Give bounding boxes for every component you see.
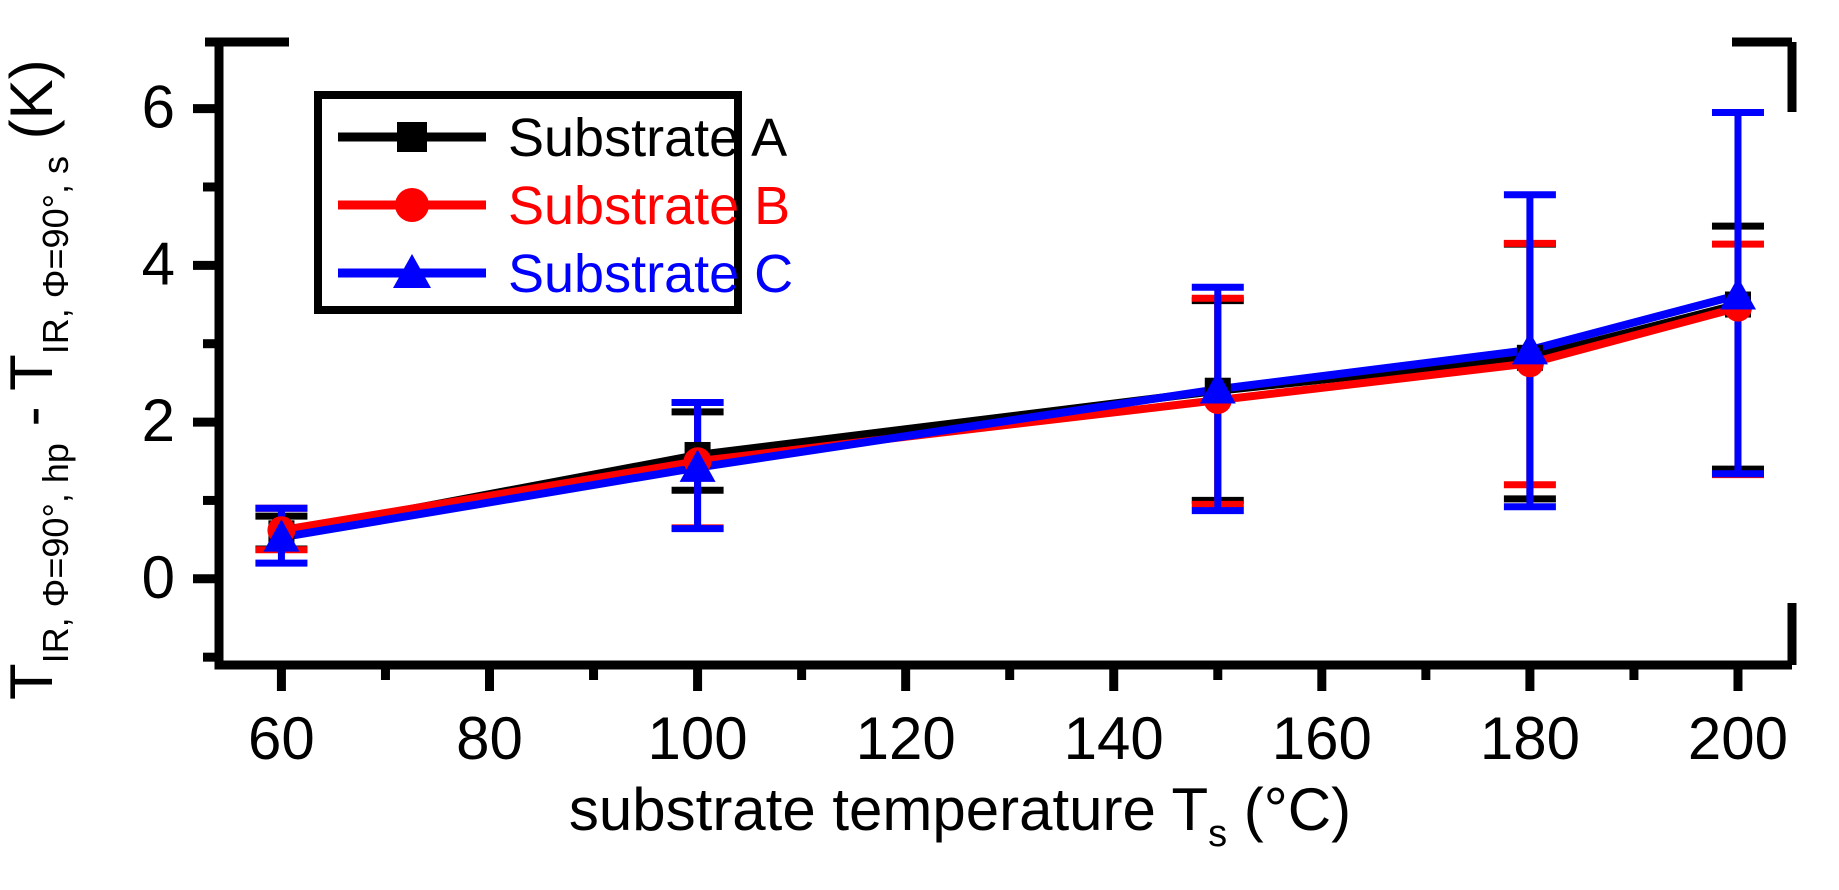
x-axis-title-main: substrate temperature T bbox=[569, 776, 1208, 843]
x-tick-label: 160 bbox=[1272, 705, 1372, 772]
y-tick-label: 6 bbox=[142, 74, 175, 141]
x-axis-title: substrate temperature Ts (°C) bbox=[569, 776, 1351, 855]
y-axis-title: TIR, Φ=90°, hp - TIR, Φ=90°, s (K) bbox=[0, 59, 76, 700]
legend-label-3: Substrate C bbox=[508, 244, 793, 304]
svg-text:TIR, Φ=90°, hp - TIR, Φ=90°, s: TIR, Φ=90°, hp - TIR, Φ=90°, s (K) bbox=[0, 59, 76, 700]
plot-canvas: TIR, Φ=90°, hp - TIR, Φ=90°, s (K) subst… bbox=[0, 0, 1839, 890]
x-tick-label: 200 bbox=[1688, 705, 1788, 772]
x-axis-title-sub: s bbox=[1208, 813, 1227, 855]
circle-marker bbox=[395, 188, 429, 222]
plot-contents: 02466080100120140160180200Substrate ASub… bbox=[142, 42, 1792, 772]
x-tick-label: 100 bbox=[648, 705, 748, 772]
x-tick-label: 80 bbox=[456, 705, 523, 772]
x-tick-label: 140 bbox=[1064, 705, 1164, 772]
y-axis-title-sub1: IR, Φ=90°, hp bbox=[35, 443, 76, 663]
x-tick-label: 120 bbox=[856, 705, 956, 772]
y-tick-label: 0 bbox=[142, 544, 175, 611]
y-axis-title-mid: - T bbox=[0, 354, 65, 443]
y-axis-title-sub2: IR, Φ=90°, s bbox=[35, 156, 76, 354]
y-tick-label: 2 bbox=[142, 387, 175, 454]
y-tick-label: 4 bbox=[142, 230, 175, 297]
y-axis-title-tail: (K) bbox=[0, 59, 65, 156]
x-tick-label: 60 bbox=[248, 705, 315, 772]
x-tick-label: 180 bbox=[1480, 705, 1580, 772]
y-axis-title-t1: T bbox=[0, 663, 65, 700]
chart-figure: TIR, Φ=90°, hp - TIR, Φ=90°, s (K) subst… bbox=[0, 0, 1839, 890]
legend-label-1: Substrate A bbox=[508, 108, 787, 168]
square-marker bbox=[397, 122, 427, 152]
x-axis-title-tail: (°C) bbox=[1227, 776, 1351, 843]
legend-label-2: Substrate B bbox=[508, 176, 790, 236]
svg-text:substrate temperature Ts (°C): substrate temperature Ts (°C) bbox=[569, 776, 1351, 855]
